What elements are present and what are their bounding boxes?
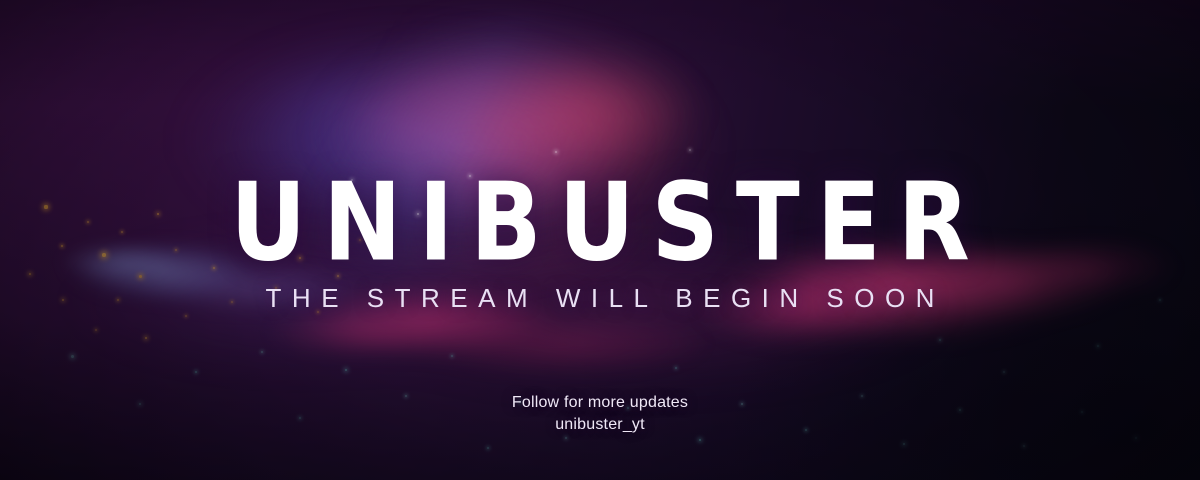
star-speck — [699, 439, 702, 442]
star-speck — [675, 367, 677, 369]
stream-overlay-canvas: UNIBUSTER THE STREAM WILL BEGIN SOON Fol… — [0, 0, 1200, 480]
star-speck — [487, 447, 489, 449]
star-speck — [185, 315, 187, 317]
star-speck — [565, 437, 567, 439]
star-speck — [1023, 445, 1025, 447]
star-speck — [95, 329, 97, 331]
star-speck — [903, 443, 906, 446]
star-speck — [195, 371, 197, 373]
channel-handle: unibuster_yt — [0, 414, 1200, 436]
stream-status-tagline: THE STREAM WILL BEGIN SOON — [0, 283, 1200, 313]
star-speck — [555, 151, 557, 153]
follow-cta-text: Follow for more updates — [0, 392, 1200, 414]
star-speck — [145, 337, 148, 340]
star-speck — [1097, 345, 1099, 347]
star-speck — [345, 369, 348, 372]
brand-wordmark: UNIBUSTER — [0, 168, 1200, 276]
footer-block: Follow for more updates unibuster_yt — [0, 392, 1200, 436]
star-speck — [451, 355, 453, 357]
star-speck — [261, 351, 263, 353]
star-speck — [689, 149, 691, 151]
star-speck — [71, 355, 74, 358]
star-speck — [1003, 371, 1005, 373]
star-speck — [939, 339, 941, 341]
star-speck — [1135, 437, 1138, 440]
